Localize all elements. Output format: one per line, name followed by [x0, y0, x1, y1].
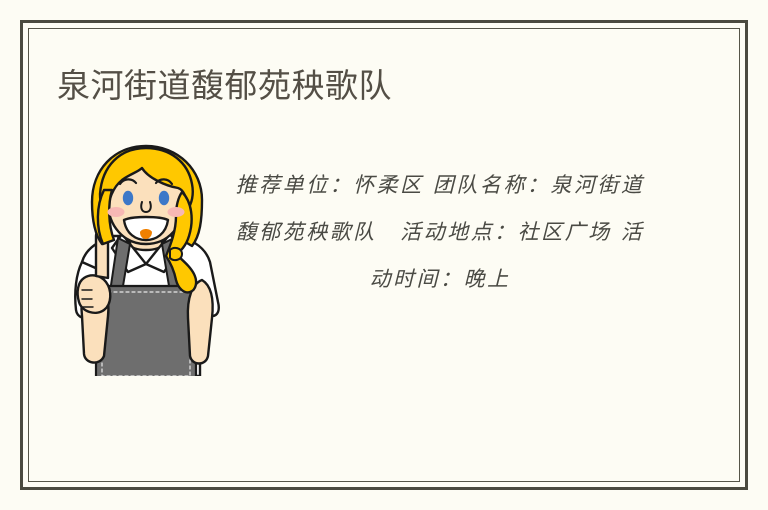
info-card: 泉河街道馥郁苑秧歌队 — [0, 0, 768, 510]
cartoon-woman-pointing-up-icon — [70, 140, 222, 376]
team-info-text: 推荐单位：怀柔区 团队名称：泉河街道馥郁苑秧歌队 活动地点：社区广场 活动时间：… — [228, 162, 652, 303]
page-title: 泉河街道馥郁苑秧歌队 — [57, 64, 392, 108]
